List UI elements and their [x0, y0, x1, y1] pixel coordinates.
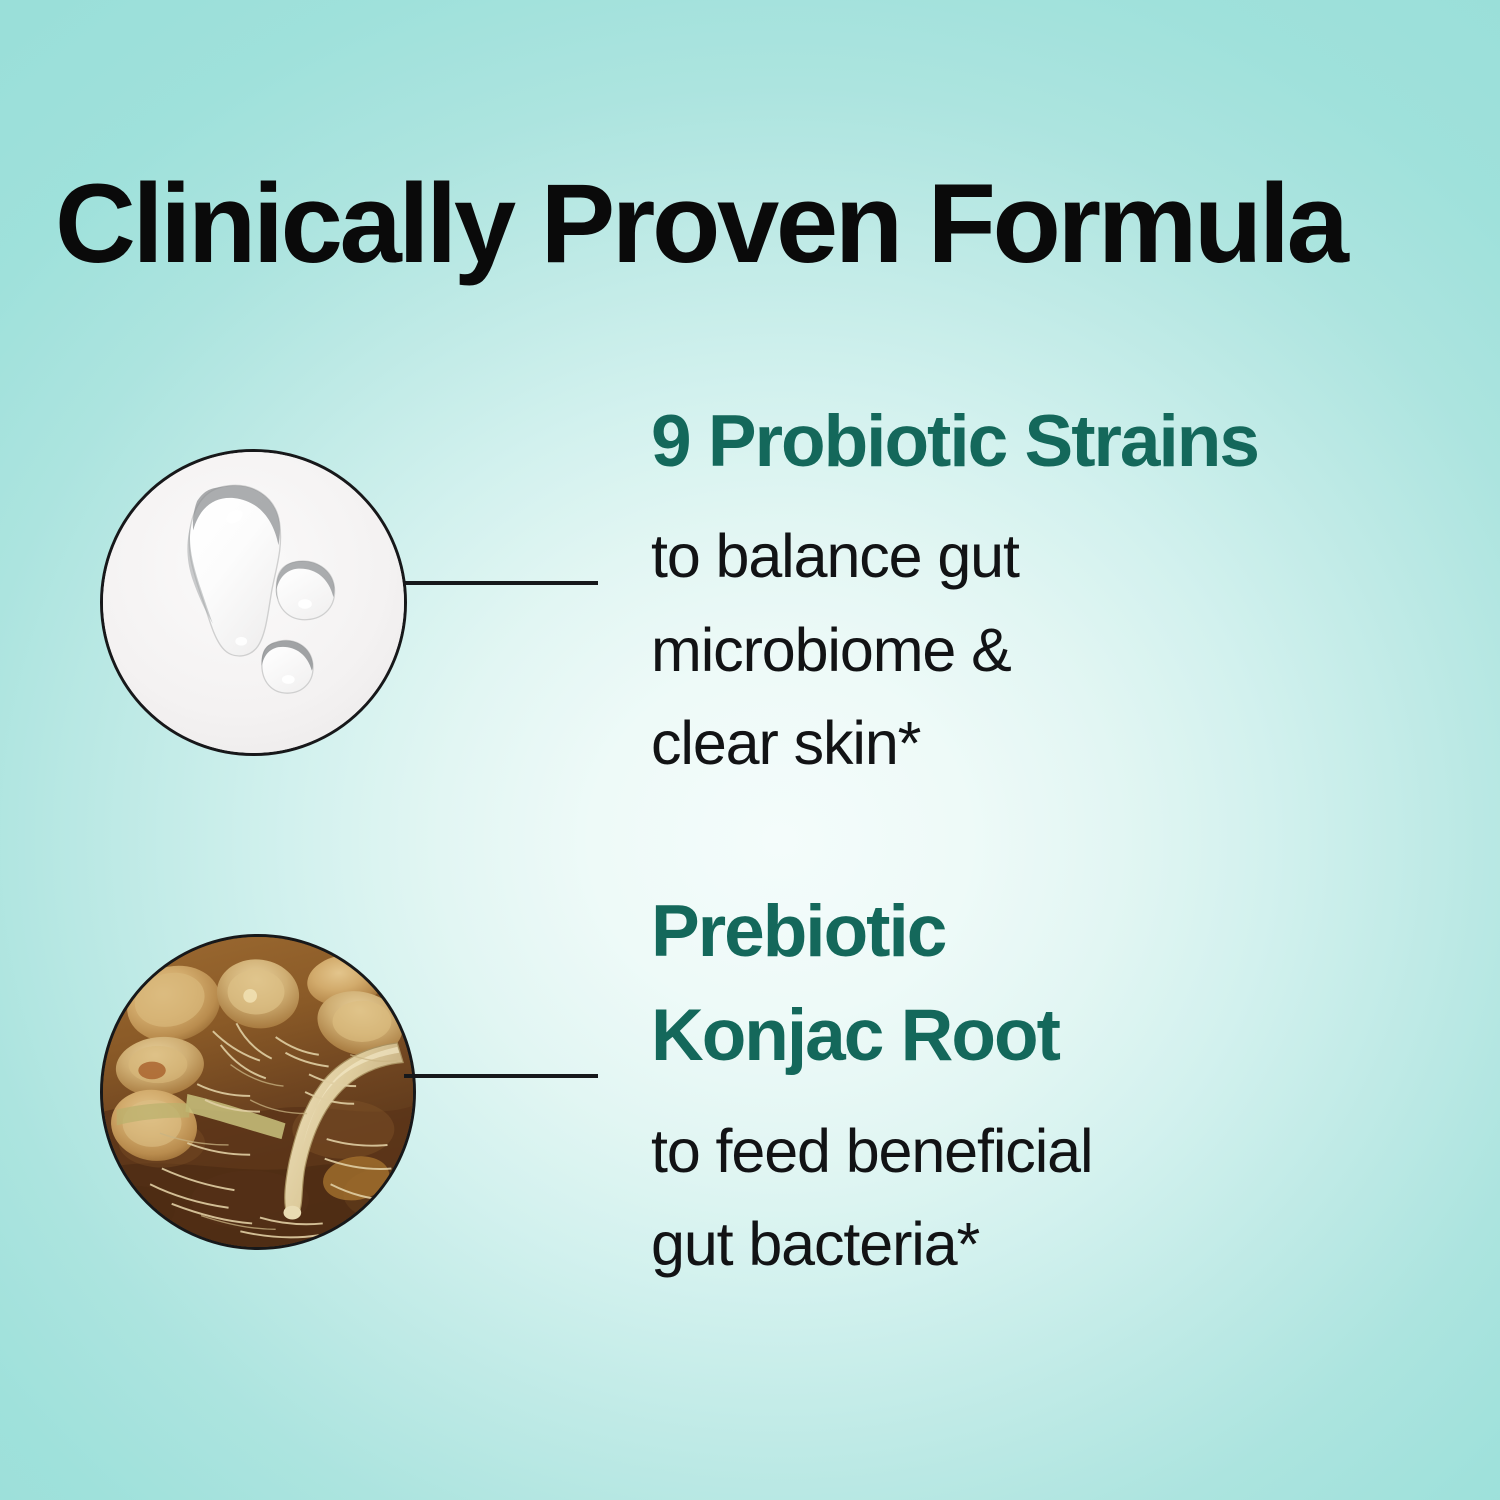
gel-droplets-icon	[103, 452, 404, 753]
konjac-root-icon	[103, 937, 413, 1247]
connector-line-2	[404, 1074, 598, 1078]
feature-body: to balance gut microbiome & clear skin*	[651, 510, 1451, 790]
feature-konjac-root: Prebiotic Konjac Root to feed beneficial…	[651, 880, 1451, 1291]
feature-body: to feed beneficial gut bacteria*	[651, 1105, 1451, 1292]
promo-canvas: Clinically Proven Formula	[0, 0, 1500, 1500]
feature-heading: 9 Probiotic Strains	[651, 390, 1451, 494]
konjac-root-photo-circle	[100, 934, 416, 1250]
page-title: Clinically Proven Formula	[55, 168, 1455, 280]
gel-droplets-photo-circle	[100, 449, 407, 756]
feature-heading: Prebiotic Konjac Root	[651, 880, 1451, 1089]
connector-line-1	[404, 581, 598, 585]
feature-probiotic-strains: 9 Probiotic Strains to balance gut micro…	[651, 390, 1451, 790]
